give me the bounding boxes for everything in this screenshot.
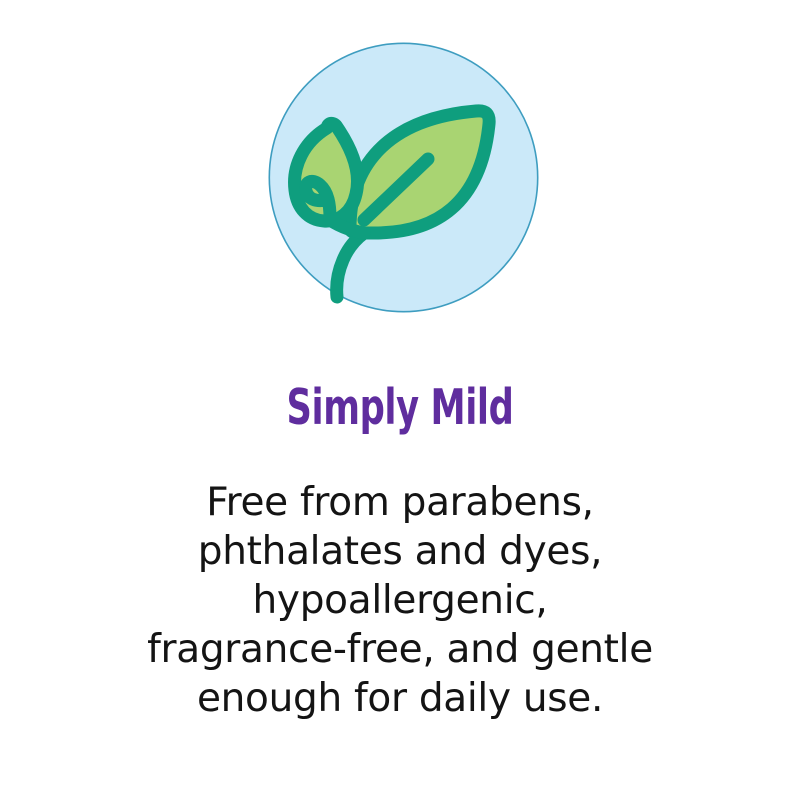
- description-line: fragrance-free, and gentle: [0, 625, 800, 674]
- description-line: phthalates and dyes,: [0, 527, 800, 576]
- description-line: hypoallergenic,: [0, 576, 800, 625]
- page-title: Simply Mild: [80, 383, 720, 432]
- leaf-badge: [268, 42, 539, 313]
- description-line: Free from parabens,: [0, 478, 800, 527]
- description-line: enough for daily use.: [0, 674, 800, 723]
- product-claim-card: Simply Mild Free from parabens, phthalat…: [0, 0, 800, 800]
- leaf-sprout-icon: [268, 42, 539, 313]
- description-block: Free from parabens, phthalates and dyes,…: [0, 478, 800, 723]
